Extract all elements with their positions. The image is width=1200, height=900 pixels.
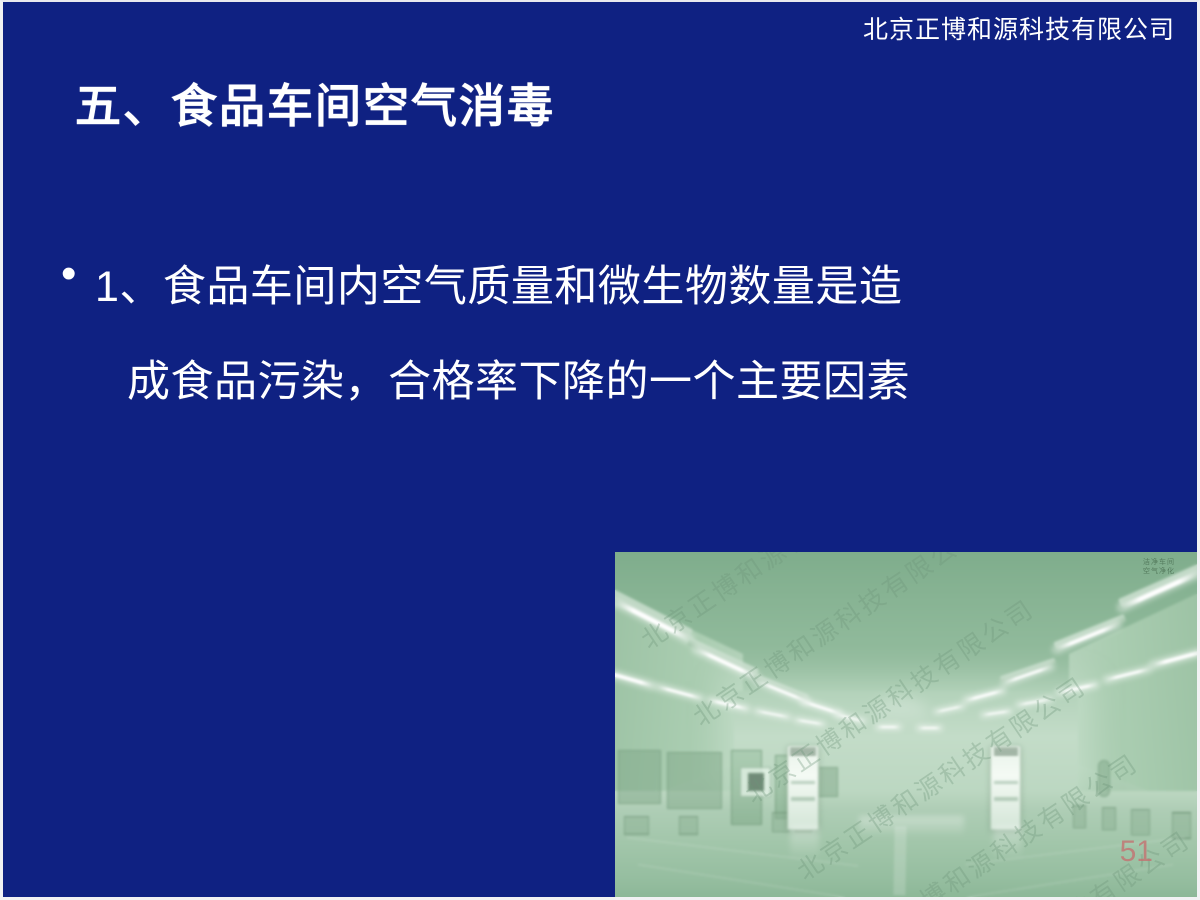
bullet-text: 1、食品车间内空气质量和微生物数量是造 成食品污染，合格率下降的一个主要因素 [95, 240, 1151, 430]
photo-ac-grille [790, 748, 815, 755]
photo-corner-caption-line-1: 洁净车间 [1143, 558, 1175, 567]
photo-ac-band [791, 797, 815, 800]
photo-wall-vent [1131, 809, 1150, 835]
photo-wall-vent [1172, 812, 1191, 838]
photo-wall-window [667, 752, 721, 810]
bullet-text-line-1: 1、食品车间内空气质量和微生物数量是造 [95, 263, 902, 311]
photo-wall-vent [1102, 807, 1116, 830]
photo-floor-reflection [790, 826, 819, 861]
photo-air-conditioner-right [990, 745, 1021, 830]
photo-control-box-screen [748, 773, 764, 790]
photo-ac-band [994, 781, 1017, 784]
photo-corner-caption-line-2: 空气净化 [1143, 567, 1175, 576]
photo-wall-window [618, 750, 661, 804]
slide-number: 51 [1120, 837, 1153, 867]
photo-wall-fixture [1098, 760, 1109, 797]
bullet-marker-icon: • [61, 240, 95, 308]
list-item: • 1、食品车间内空气质量和微生物数量是造 成食品污染，合格率下降的一个主要因素 [61, 240, 1151, 430]
photo-ac-band [994, 797, 1017, 800]
company-header-text: 北京正博和源科技有限公司 [863, 18, 1175, 43]
presentation-slide: 北京正博和源科技有限公司 五、食品车间空气消毒 • 1、食品车间内空气质量和微生… [0, 0, 1200, 900]
photo-corner-caption: 洁净车间 空气净化 [1143, 558, 1175, 576]
cleanroom-interior-photo: 北京正博和源科技有限公司 北京正博和源科技有限公司 北京正博和源科技有限公司 北… [615, 552, 1197, 899]
photo-floor-reflection [993, 826, 1022, 861]
photo-wall-vent [679, 816, 698, 835]
photo-air-conditioner-left [787, 745, 819, 830]
photo-backwall-glare [871, 698, 929, 729]
photo-ac-grille [994, 748, 1018, 755]
page-title: 五、食品车间空气消毒 [75, 80, 555, 133]
photo-ceiling-light [918, 727, 941, 729]
photo-wall-vent [1073, 805, 1087, 828]
photo-floor-reflection [859, 816, 964, 837]
bullet-text-line-2: 成食品污染，合格率下降的一个主要因素 [95, 335, 1151, 430]
photo-floor-seam [894, 826, 907, 896]
photo-wall-vent [624, 816, 649, 835]
photo-ac-band [791, 781, 815, 784]
slide-body: • 1、食品车间内空气质量和微生物数量是造 成食品污染，合格率下降的一个主要因素 [61, 240, 1151, 430]
